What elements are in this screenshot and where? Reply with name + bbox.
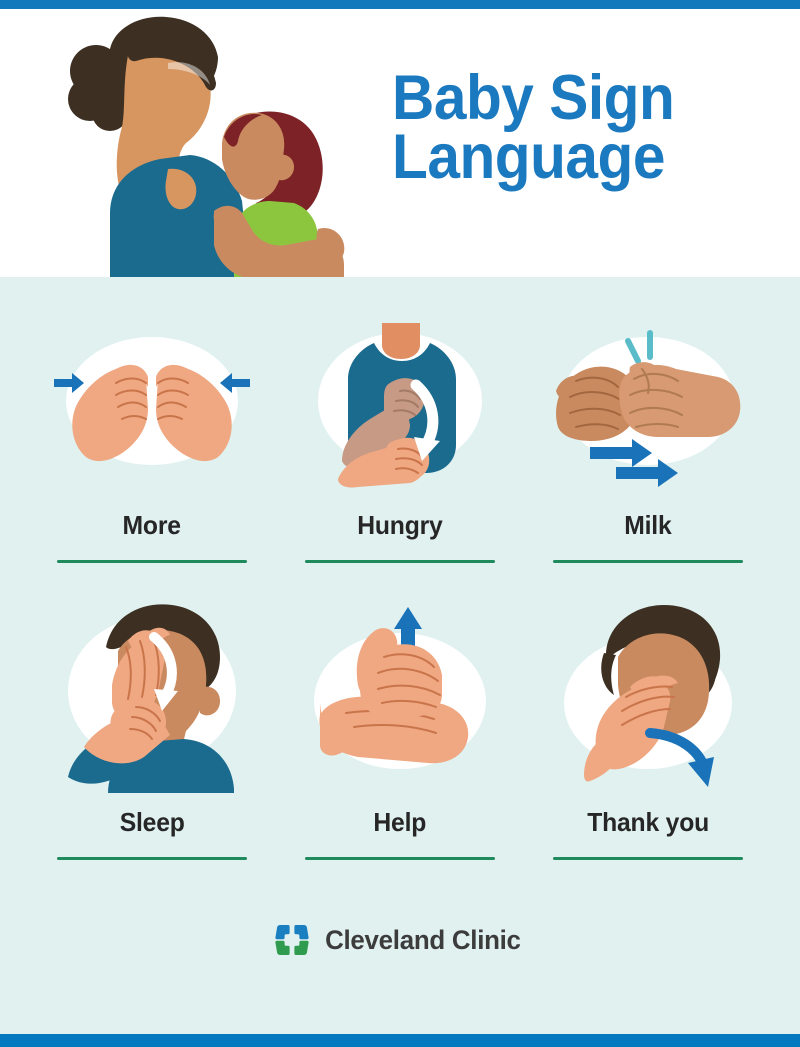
sign-underline [305,560,495,563]
sign-label: More [123,510,181,541]
sign-card-help[interactable]: Help [276,597,524,860]
brand-name: Cleveland Clinic [325,925,521,956]
two-hands-fingertips-touching-icon [50,321,255,496]
header: Baby Sign Language [0,9,800,277]
cleveland-clinic-logo: Cleveland Clinic [275,923,525,957]
hand-over-face-icon [50,597,255,793]
sign-label: Sleep [120,807,185,838]
sign-underline [553,560,743,563]
sign-card-thank-you[interactable]: Thank you [524,597,772,860]
mother-holding-baby-illustration [18,9,388,277]
signs-section: More [0,277,800,1034]
signs-grid: More [0,321,800,860]
sign-card-sleep[interactable]: Sleep [28,597,276,860]
sign-label: Hungry [357,510,442,541]
top-rule [0,0,800,9]
sign-label: Milk [624,510,671,541]
two-fists-squeezing-icon [546,321,751,496]
cleveland-clinic-logo-mark [275,923,309,957]
page-title: Baby Sign Language [392,69,699,186]
sign-card-more[interactable]: More [28,321,276,563]
poster: Baby Sign Language [0,0,800,1047]
sign-label: Help [374,807,427,838]
sign-label: Thank you [587,807,709,838]
sign-card-hungry[interactable]: Hungry [276,321,524,563]
footer: Cleveland Clinic [0,860,800,1034]
sign-underline [57,560,247,563]
hand-down-chest-icon [298,321,503,496]
hand-from-chin-outward-icon [546,597,751,793]
bottom-rule [0,1034,800,1047]
sign-card-milk[interactable]: Milk [524,321,772,563]
thumb-up-fist-on-palm-icon [298,597,503,793]
